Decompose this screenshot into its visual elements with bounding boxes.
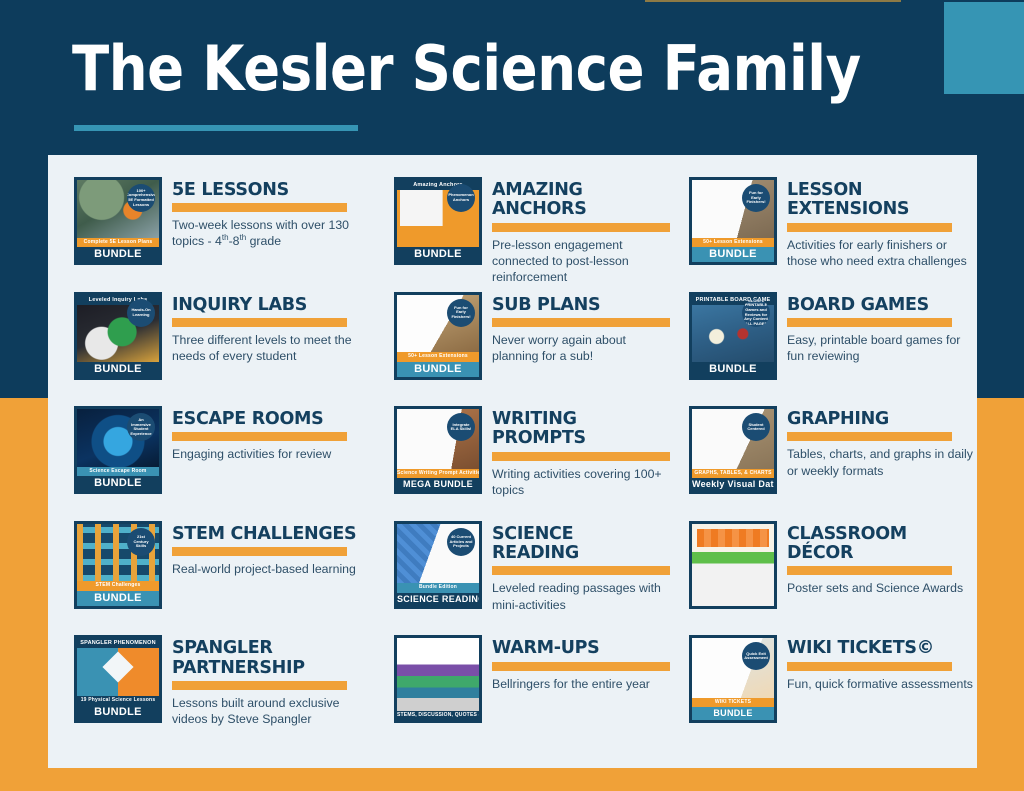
title-accent-bar [787,432,952,441]
thumbnail-badge: An Immersive Student Experience [127,413,155,441]
product-title: 5E LESSONS [172,181,368,200]
thumbnail-badge: Quick Exit Assessment [742,642,770,670]
thumbnail-artwork: 21st Century Skills [77,524,159,582]
product-title: ESCAPE ROOMS [172,410,368,429]
title-accent-bar [492,566,670,575]
products-panel: 100+ Comprehensive 5E Formatted LessonsC… [48,155,977,768]
title-accent-bar [172,432,347,441]
product-title: WRITING PROMPTS [492,410,663,449]
product-thumbnail[interactable]: 40 Current Articles and ProjectsBundle E… [394,521,482,609]
product-card-9[interactable]: Student CenteredGRAPHS, TABLES, & CHARTS… [663,406,977,521]
product-title: AMAZING ANCHORS [492,181,663,220]
product-description: Leveled reading passages with mini-activ… [492,580,663,612]
product-thumbnail[interactable]: Integrate ELA Skills!Science Writing Pro… [394,406,482,494]
product-text: STEM CHALLENGESReal-world project-based … [172,521,368,577]
thumbnail-artwork: Fun for Early Finishers! [397,295,479,353]
thumbnail-band-label: STEMS, DISCUSSION, QUOTES & MORE [397,711,479,721]
product-card-5[interactable]: Fun for Early Finishers!50+ Lesson Exten… [368,292,663,407]
thumbnail-badge: Fun for Early Finishers! [447,299,475,327]
product-title: STEM CHALLENGES [172,525,368,544]
thumbnail-band-label: 50+ Lesson Extensions [692,238,774,248]
thumbnail-band-label: WIKI TICKETS [692,698,774,708]
thumbnail-bundle-label: SCIENCE READING COMPREHENSION [397,593,479,606]
product-description: Lessons built around exclusive videos by… [172,695,368,727]
product-card-2[interactable]: Amazing AnchorsPhenomenon AnchorsBUNDLEA… [368,177,663,292]
product-text: SPANGLER PARTNERSHIPLessons built around… [172,635,368,727]
title-accent-bar [787,318,952,327]
product-card-6[interactable]: PRINTABLE BOARD GAMECOLORFUL PRINTABLE G… [663,292,977,407]
product-card-15[interactable]: Quick Exit AssessmentWIKI TICKETSBUNDLEW… [663,635,977,750]
thumbnail-artwork: An Immersive Student Experience [77,409,159,467]
thumbnail-bundle-label: BUNDLE [77,247,159,262]
product-description: Tables, charts, and graphs in daily or w… [787,446,977,478]
thumbnail-band-label: Science Escape Room [77,467,159,477]
thumbnail-badge: 21st Century Skills [127,528,155,556]
thumbnail-badge: 100+ Comprehensive 5E Formatted Lessons [127,184,155,212]
title-accent-bar [172,547,347,556]
product-card-10[interactable]: 21st Century SkillsSTEM ChallengesBUNDLE… [48,521,368,636]
product-thumbnail[interactable]: STEMS, DISCUSSION, QUOTES & MORE [394,635,482,723]
thumbnail-bundle-label: BUNDLE [77,476,159,491]
product-thumbnail[interactable] [689,521,777,609]
product-description: Three different levels to meet the needs… [172,332,368,364]
thumbnail-top-label: SPANGLER PHENOMENON [77,638,159,648]
title-accent-bar [787,223,952,232]
thumbnail-band-label: 50+ Lesson Extensions [397,352,479,362]
thumbnail-band-label: GRAPHS, TABLES, & CHARTS [692,469,774,479]
product-card-12[interactable]: CLASSROOM DÉCORPoster sets and Science A… [663,521,977,636]
title-accent-bar [492,662,670,671]
product-thumbnail[interactable]: PRINTABLE BOARD GAMECOLORFUL PRINTABLE G… [689,292,777,380]
product-text: INQUIRY LABSThree different levels to me… [172,292,368,365]
title-accent-bar [787,566,952,575]
product-description: Two-week lessons with over 130 topics - … [172,217,368,250]
product-description: Bellringers for the entire year [492,676,663,692]
thumbnail-badge: Hands-On Learning [127,299,155,327]
product-text: BOARD GAMESEasy, printable board games f… [787,292,977,365]
thumbnail-badge: COLORFUL PRINTABLE Games and Reviews for… [742,299,770,327]
thumbnail-bundle-label: Weekly Visual Data [692,478,774,491]
thumbnail-bundle-label: BUNDLE [77,362,159,377]
product-card-1[interactable]: 100+ Comprehensive 5E Formatted LessonsC… [48,177,368,292]
product-thumbnail[interactable]: 100+ Comprehensive 5E Formatted LessonsC… [74,177,162,265]
product-text: AMAZING ANCHORSPre-lesson engagement con… [492,177,663,285]
thumbnail-artwork: Student Centered [692,409,774,469]
product-text: LESSON EXTENSIONSActivities for early fi… [787,177,977,269]
product-card-4[interactable]: Leveled Inquiry LabsHands-On LearningBUN… [48,292,368,407]
decorative-teal-block [944,2,1024,94]
title-accent-bar [787,662,952,671]
product-thumbnail[interactable]: 21st Century SkillsSTEM ChallengesBUNDLE [74,521,162,609]
product-description: Pre-lesson engagement connected to post-… [492,237,663,286]
product-thumbnail[interactable]: Quick Exit AssessmentWIKI TICKETSBUNDLE [689,635,777,723]
product-title: LESSON EXTENSIONS [787,181,977,220]
thumbnail-artwork: Fun for Early Finishers! [692,180,774,238]
product-title: INQUIRY LABS [172,296,368,315]
product-description: Engaging activities for review [172,446,368,462]
product-text: SUB PLANSNever worry again about plannin… [492,292,663,365]
product-text: WIKI TICKETS©Fun, quick formative assess… [787,635,977,691]
product-description: Poster sets and Science Awards [787,580,977,596]
product-card-14[interactable]: STEMS, DISCUSSION, QUOTES & MOREWARM-UPS… [368,635,663,750]
thumbnail-band-label: 19 Physical Science Lessons [77,696,159,706]
product-card-11[interactable]: 40 Current Articles and ProjectsBundle E… [368,521,663,636]
thumbnail-badge: Phenomenon Anchors [447,184,475,212]
product-description: Fun, quick formative assessments [787,676,977,692]
product-text: WARM-UPSBellringers for the entire year [492,635,663,691]
thumbnail-bundle-label: BUNDLE [397,247,479,262]
title-accent-bar [172,203,347,212]
product-title: SPANGLER PARTNERSHIP [172,639,368,678]
thumbnail-artwork: Integrate ELA Skills! [397,409,479,469]
product-thumbnail[interactable]: Leveled Inquiry LabsHands-On LearningBUN… [74,292,162,380]
thumbnail-artwork: PRINTABLE BOARD GAMECOLORFUL PRINTABLE G… [692,295,774,362]
thumbnail-artwork [397,638,479,711]
thumbnail-badge: Integrate ELA Skills! [447,413,475,441]
thumbnail-artwork: 100+ Comprehensive 5E Formatted Lessons [77,180,159,238]
thumbnail-badge: Fun for Early Finishers! [742,184,770,212]
product-thumbnail[interactable]: SPANGLER PHENOMENON19 Physical Science L… [74,635,162,723]
thumbnail-artwork: Leveled Inquiry LabsHands-On Learning [77,295,159,362]
thumbnail-band-label: Complete 5E Lesson Plans [77,238,159,248]
product-title: BOARD GAMES [787,296,977,315]
product-title: SCIENCE READING [492,525,663,564]
thumbnail-band-label: Science Writing Prompt Activities [397,469,479,479]
product-text: 5E LESSONSTwo-week lessons with over 130… [172,177,368,250]
thumbnail-artwork: Amazing AnchorsPhenomenon Anchors [397,180,479,247]
product-text: SCIENCE READINGLeveled reading passages … [492,521,663,613]
product-text: GRAPHINGTables, charts, and graphs in da… [787,406,977,479]
product-title: SUB PLANS [492,296,663,315]
products-grid: 100+ Comprehensive 5E Formatted LessonsC… [48,155,977,768]
title-accent-bar [492,223,670,232]
product-description: Real-world project-based learning [172,561,368,577]
product-title: WIKI TICKETS© [787,639,977,658]
thumbnail-badge: Student Centered [742,413,770,441]
thumbnail-artwork: 40 Current Articles and Projects [397,524,479,584]
product-description: Writing activities covering 100+ topics [492,466,663,498]
title-accent-bar [172,318,347,327]
header: The Kesler Science Family [0,0,944,155]
product-card-3[interactable]: Fun for Early Finishers!50+ Lesson Exten… [663,177,977,292]
product-title: WARM-UPS [492,639,663,658]
product-thumbnail[interactable]: Fun for Early Finishers!50+ Lesson Exten… [689,177,777,265]
thumbnail-bundle-label: BUNDLE [692,362,774,377]
product-description: Never worry again about planning for a s… [492,332,663,364]
product-text: CLASSROOM DÉCORPoster sets and Science A… [787,521,977,597]
thumbnail-band-label: Bundle Edition [397,583,479,593]
product-thumbnail[interactable]: Fun for Early Finishers!50+ Lesson Exten… [394,292,482,380]
product-title: GRAPHING [787,410,977,429]
thumbnail-artwork: Quick Exit Assessment [692,638,774,698]
title-underline-accent [74,125,358,131]
thumbnail-bundle-label: BUNDLE [692,707,774,720]
thumbnail-bundle-label: BUNDLE [692,247,774,262]
product-text: WRITING PROMPTSWriting activities coveri… [492,406,663,498]
thumbnail-artwork [692,524,774,606]
product-thumbnail[interactable]: Student CenteredGRAPHS, TABLES, & CHARTS… [689,406,777,494]
title-accent-bar [492,452,670,461]
thumbnail-bundle-label: BUNDLE [77,705,159,720]
title-accent-bar [492,318,670,327]
product-card-13[interactable]: SPANGLER PHENOMENON19 Physical Science L… [48,635,368,750]
product-card-8[interactable]: Integrate ELA Skills!Science Writing Pro… [368,406,663,521]
thumbnail-bundle-label: BUNDLE [397,362,479,377]
product-card-7[interactable]: An Immersive Student ExperienceScience E… [48,406,368,521]
product-description: Easy, printable board games for fun revi… [787,332,977,364]
product-title: CLASSROOM DÉCOR [787,525,977,564]
product-text: ESCAPE ROOMSEngaging activities for revi… [172,406,368,462]
thumbnail-bundle-label: MEGA BUNDLE [397,478,479,491]
title-accent-bar [172,681,347,690]
product-description: Activities for early finishers or those … [787,237,977,269]
thumbnail-artwork: SPANGLER PHENOMENON [77,638,159,696]
thumbnail-band-label: STEM Challenges [77,581,159,591]
thumbnail-badge: 40 Current Articles and Projects [447,528,475,556]
product-thumbnail[interactable]: An Immersive Student ExperienceScience E… [74,406,162,494]
page-title: The Kesler Science Family [72,36,861,101]
thumbnail-bundle-label: BUNDLE [77,591,159,606]
product-thumbnail[interactable]: Amazing AnchorsPhenomenon AnchorsBUNDLE [394,177,482,265]
